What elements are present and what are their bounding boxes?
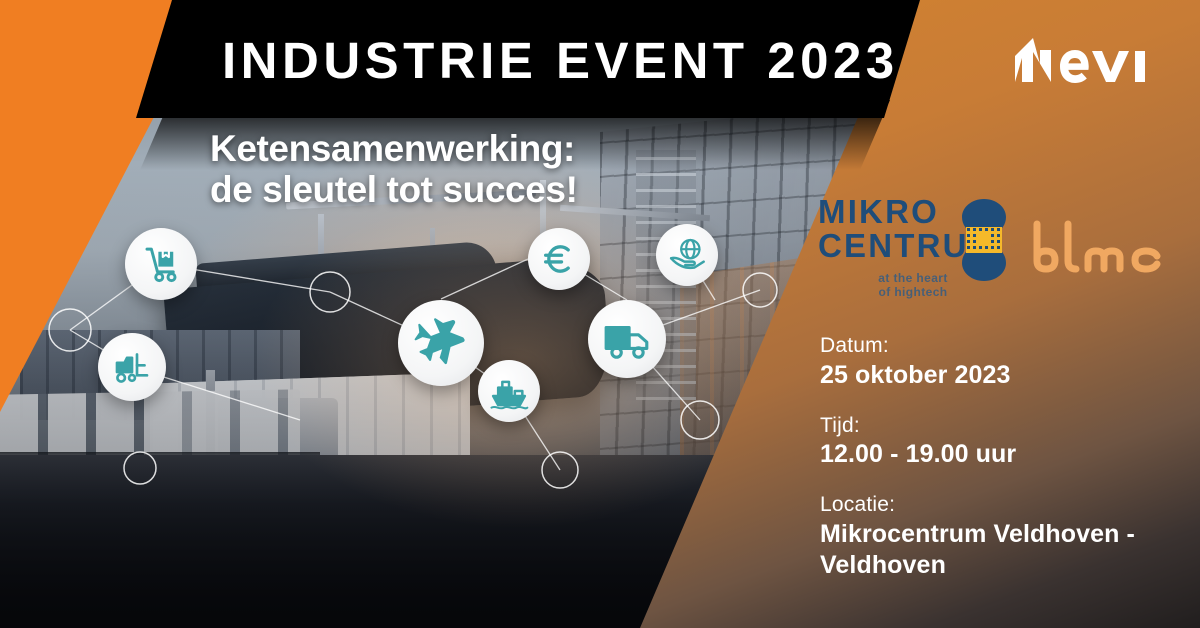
mikrocentrum-hourglass-mark: [958, 197, 1010, 288]
subtitle-line-1: Ketensamenwerking:: [210, 128, 578, 169]
hand-truck-icon: [125, 228, 197, 300]
delivery-truck-icon: [588, 300, 666, 378]
event-date-group: Datum: 25 oktober 2023: [820, 332, 1140, 391]
forklift-icon: [98, 333, 166, 401]
euro-icon: [528, 228, 590, 290]
event-location-group: Locatie: Mikrocentrum Veldhoven - Veldho…: [820, 491, 1140, 581]
cargo-ship-icon: [478, 360, 540, 422]
airplane-icon: [398, 300, 484, 386]
time-value: 12.00 - 19.00 uur: [820, 439, 1140, 470]
blmc-logo: [1030, 218, 1170, 276]
location-value-line-1: Mikrocentrum Veldhoven -: [820, 519, 1140, 550]
location-label: Locatie:: [820, 491, 1140, 519]
mikrocentrum-logo: MIKRO CENTRUM at the heart of hightech: [818, 195, 1008, 305]
event-time-group: Tijd: 12.00 - 19.00 uur: [820, 412, 1140, 471]
page-title: INDUSTRIE EVENT 2023: [222, 35, 899, 86]
time-label: Tijd:: [820, 412, 1140, 440]
subtitle-line-2: de sleutel tot succes!: [210, 169, 578, 210]
event-banner: INDUSTRIE EVENT 2023 Ketensamenwerking: …: [0, 0, 1200, 628]
location-value-line-2: Veldhoven: [820, 550, 1140, 581]
nevi-logo: [1013, 36, 1163, 86]
date-label: Datum:: [820, 332, 1140, 360]
event-details: Datum: 25 oktober 2023 Tijd: 12.00 - 19.…: [820, 332, 1140, 602]
globe-hand-icon: [656, 224, 718, 286]
date-value: 25 oktober 2023: [820, 360, 1140, 391]
banner-subtitle: Ketensamenwerking: de sleutel tot succes…: [210, 128, 578, 211]
